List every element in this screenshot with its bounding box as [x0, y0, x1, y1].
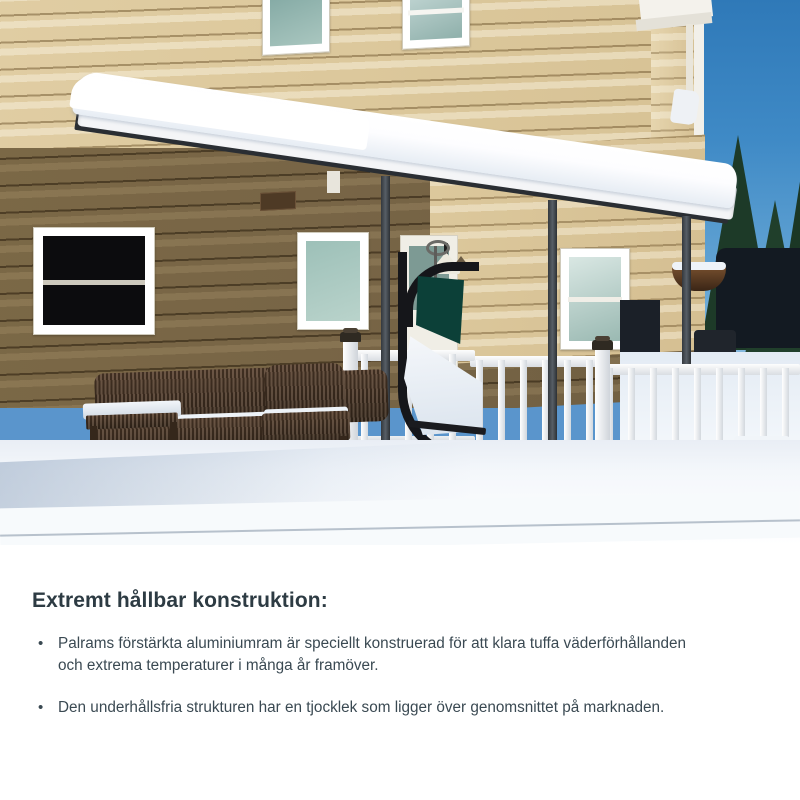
window-sash-bar: [568, 297, 622, 302]
window-glass: [410, 0, 462, 40]
content-panel: Extremt hållbar konstruktion: • Palrams …: [0, 545, 800, 800]
railing-baluster: [498, 360, 505, 444]
bullet-icon: •: [38, 697, 43, 719]
list-item-text: Den underhållsfria strukturen har en tjo…: [58, 699, 664, 716]
list-item-text: Palrams förstärkta aluminiumram är speci…: [58, 635, 686, 674]
hanging-basket-snow: [672, 262, 726, 270]
list-item: • Den underhållsfria strukturen har en t…: [32, 697, 692, 719]
patio-awning: [60, 78, 740, 258]
feature-list: • Palrams förstärkta aluminiumram är spe…: [32, 633, 692, 740]
page-root: Extremt hållbar konstruktion: • Palrams …: [0, 0, 800, 800]
railing-post-cap: [592, 340, 613, 350]
railing-top-rail: [470, 356, 605, 367]
railing-baluster: [586, 360, 593, 444]
awning-post: [682, 216, 691, 366]
bullet-icon: •: [38, 633, 43, 655]
window-sash-bar: [43, 280, 145, 285]
upper-window: [402, 0, 470, 50]
wicker-chair-seat: [262, 410, 351, 443]
railing-post-cap: [340, 332, 361, 342]
page-title: Extremt hållbar konstruktion:: [32, 589, 328, 613]
railing-baluster: [564, 360, 571, 444]
window-glass: [270, 0, 322, 46]
railing-baluster: [520, 360, 527, 444]
upper-window: [262, 0, 330, 56]
awning-end-cap: [670, 88, 700, 125]
product-photo: [0, 0, 800, 545]
list-item: • Palrams förstärkta aluminiumram är spe…: [32, 633, 692, 677]
